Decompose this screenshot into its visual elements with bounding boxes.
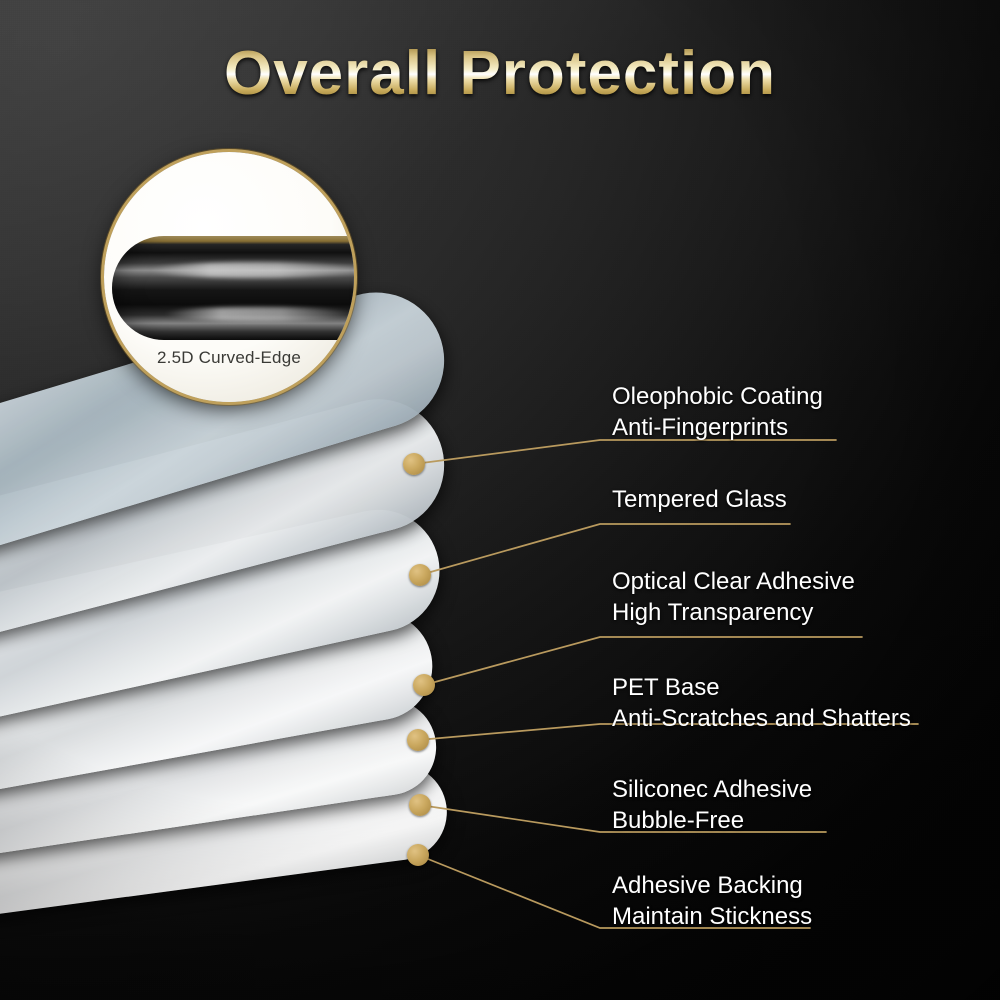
label-line-1: Tempered Glass [612,484,787,515]
label-line-2: Anti-Fingerprints [612,412,823,443]
label-line-2: Maintain Stickness [612,901,812,932]
label-adhesive-backing: Adhesive Backing Maintain Stickness [612,870,812,932]
label-line-1: Siliconec Adhesive [612,774,812,805]
product-infographic: Overall Protection 2.5D Curved-Edge Oleo… [0,0,1000,1000]
anchor-dot-pet-base [407,729,429,751]
label-optical-clear-adhesive: Optical Clear Adhesive High Transparency [612,566,855,628]
background-vignette [0,0,1000,1000]
curved-edge-inset: 2.5D Curved-Edge [104,152,354,402]
curved-edge-highlight-bottom [164,307,354,321]
label-tempered-glass: Tempered Glass [612,484,787,515]
label-line-2: High Transparency [612,597,855,628]
anchor-dot-oleophobic-coating [403,453,425,475]
label-line-1: Oleophobic Coating [612,381,823,412]
anchor-dot-adhesive-backing [407,844,429,866]
label-line-1: Optical Clear Adhesive [612,566,855,597]
inset-caption: 2.5D Curved-Edge [104,348,354,368]
label-line-2: Bubble-Free [612,805,812,836]
curved-edge-highlight-top [150,262,354,278]
anchor-dot-optical-clear-adhesive [413,674,435,696]
anchor-dot-tempered-glass [409,564,431,586]
curved-edge-illustration [112,236,354,340]
label-pet-base: PET Base Anti-Scratches and Shatters [612,672,911,734]
anchor-dot-siliconec-adhesive [409,794,431,816]
label-siliconec-adhesive: Siliconec Adhesive Bubble-Free [612,774,812,836]
page-title: Overall Protection [0,38,1000,109]
label-line-1: PET Base [612,672,911,703]
label-line-1: Adhesive Backing [612,870,812,901]
label-line-2: Anti-Scratches and Shatters [612,703,911,734]
label-oleophobic-coating: Oleophobic Coating Anti-Fingerprints [612,381,823,443]
